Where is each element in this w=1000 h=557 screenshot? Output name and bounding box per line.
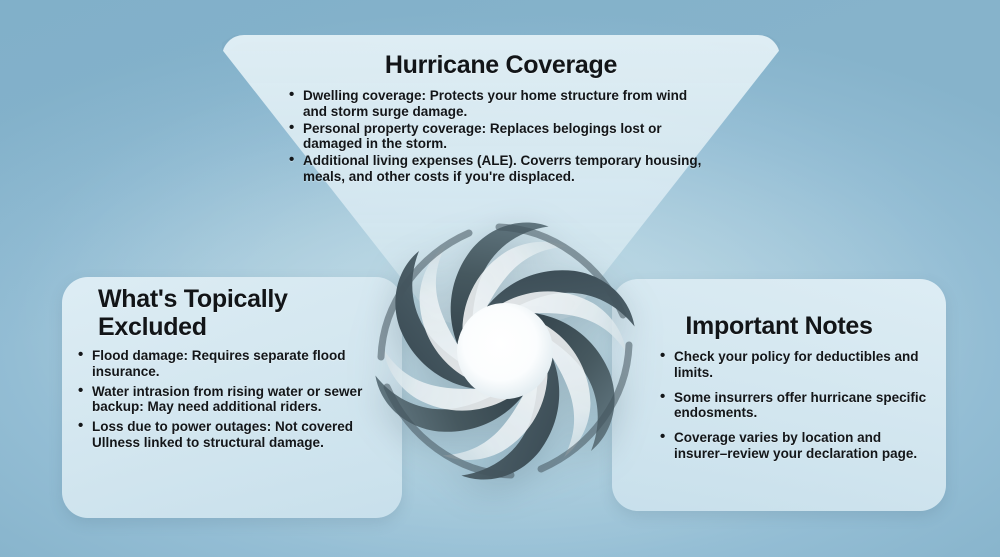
list-item: Water intrasion from rising water or sew… (76, 384, 366, 416)
left-panel-title: What's Topically Excluded (98, 286, 338, 341)
hurricane-eye (457, 303, 553, 399)
list-item: Dwelling coverage: Protects your home st… (287, 88, 712, 120)
hurricane-spiral-icon (350, 196, 660, 506)
list-item: Some insurrers offer hurricane specific … (658, 390, 938, 422)
top-panel-bullet-list: Dwelling coverage: Protects your home st… (287, 88, 712, 186)
list-item: Coverage varies by location and insurer–… (658, 430, 938, 462)
left-panel-bullet-list: Flood damage: Requires separate flood in… (76, 348, 366, 455)
right-panel-bullet-list: Check your policy for deductibles and li… (658, 349, 938, 471)
list-item: Personal property coverage: Replaces bel… (287, 121, 712, 153)
list-item: Check your policy for deductibles and li… (658, 349, 938, 381)
right-panel-title: Important Notes (612, 313, 946, 341)
hurricane-coverage-infographic: Hurricane Coverage Dwelling coverage: Pr… (0, 0, 1000, 557)
list-item: Flood damage: Requires separate flood in… (76, 348, 366, 380)
list-item: Additional living expenses (ALE). Coverr… (287, 153, 712, 185)
top-panel-title: Hurricane Coverage (222, 52, 780, 80)
list-item: Loss due to power outages: Not covered U… (76, 419, 366, 451)
